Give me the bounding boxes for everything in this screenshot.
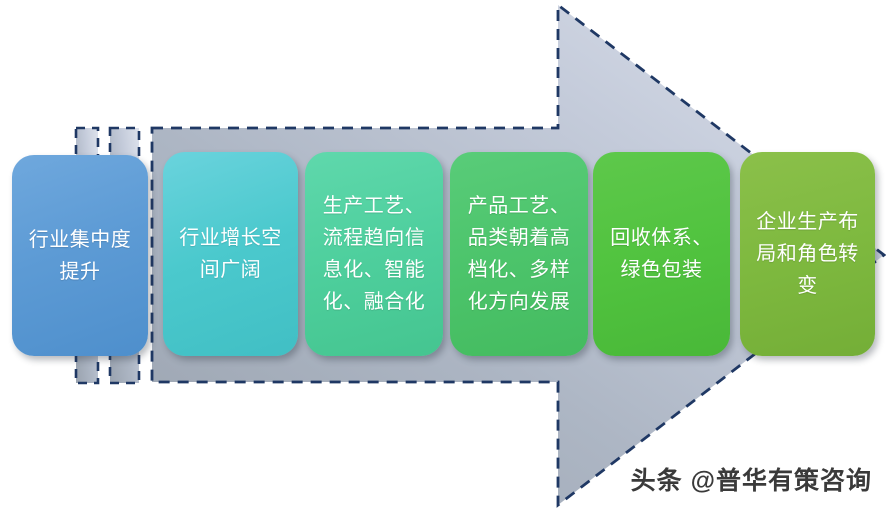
stage-box-4[interactable]: 产品工艺、 品类朝着高 档化、多样 化方向发展 (450, 152, 588, 356)
watermark-text: 头条 @普华有策咨询 (631, 461, 872, 497)
stage-box-2[interactable]: 行业增长空 间广阔 (163, 152, 298, 356)
stage-box-5[interactable]: 回收体系、 绿色包装 (593, 152, 730, 356)
stage-box-1[interactable]: 行业集中度 提升 (12, 155, 148, 356)
stage-label-6: 企业生产布 局和角色转 变 (746, 206, 869, 302)
stage-box-6[interactable]: 企业生产布 局和角色转 变 (740, 152, 875, 356)
stage-label-2: 行业增长空 间广阔 (169, 222, 292, 286)
stage-box-3[interactable]: 生产工艺、 流程趋向信 息化、智能 化、融合化 (305, 152, 443, 356)
stage-label-5: 回收体系、 绿色包装 (600, 222, 723, 286)
stage-label-1: 行业集中度 提升 (19, 224, 142, 288)
stage-label-3: 生产工艺、 流程趋向信 息化、智能 化、融合化 (313, 190, 436, 318)
stage-label-4: 产品工艺、 品类朝着高 档化、多样 化方向发展 (458, 190, 581, 318)
diagram-canvas: 行业集中度 提升 行业增长空 间广阔 生产工艺、 流程趋向信 息化、智能 化、融… (0, 0, 886, 511)
